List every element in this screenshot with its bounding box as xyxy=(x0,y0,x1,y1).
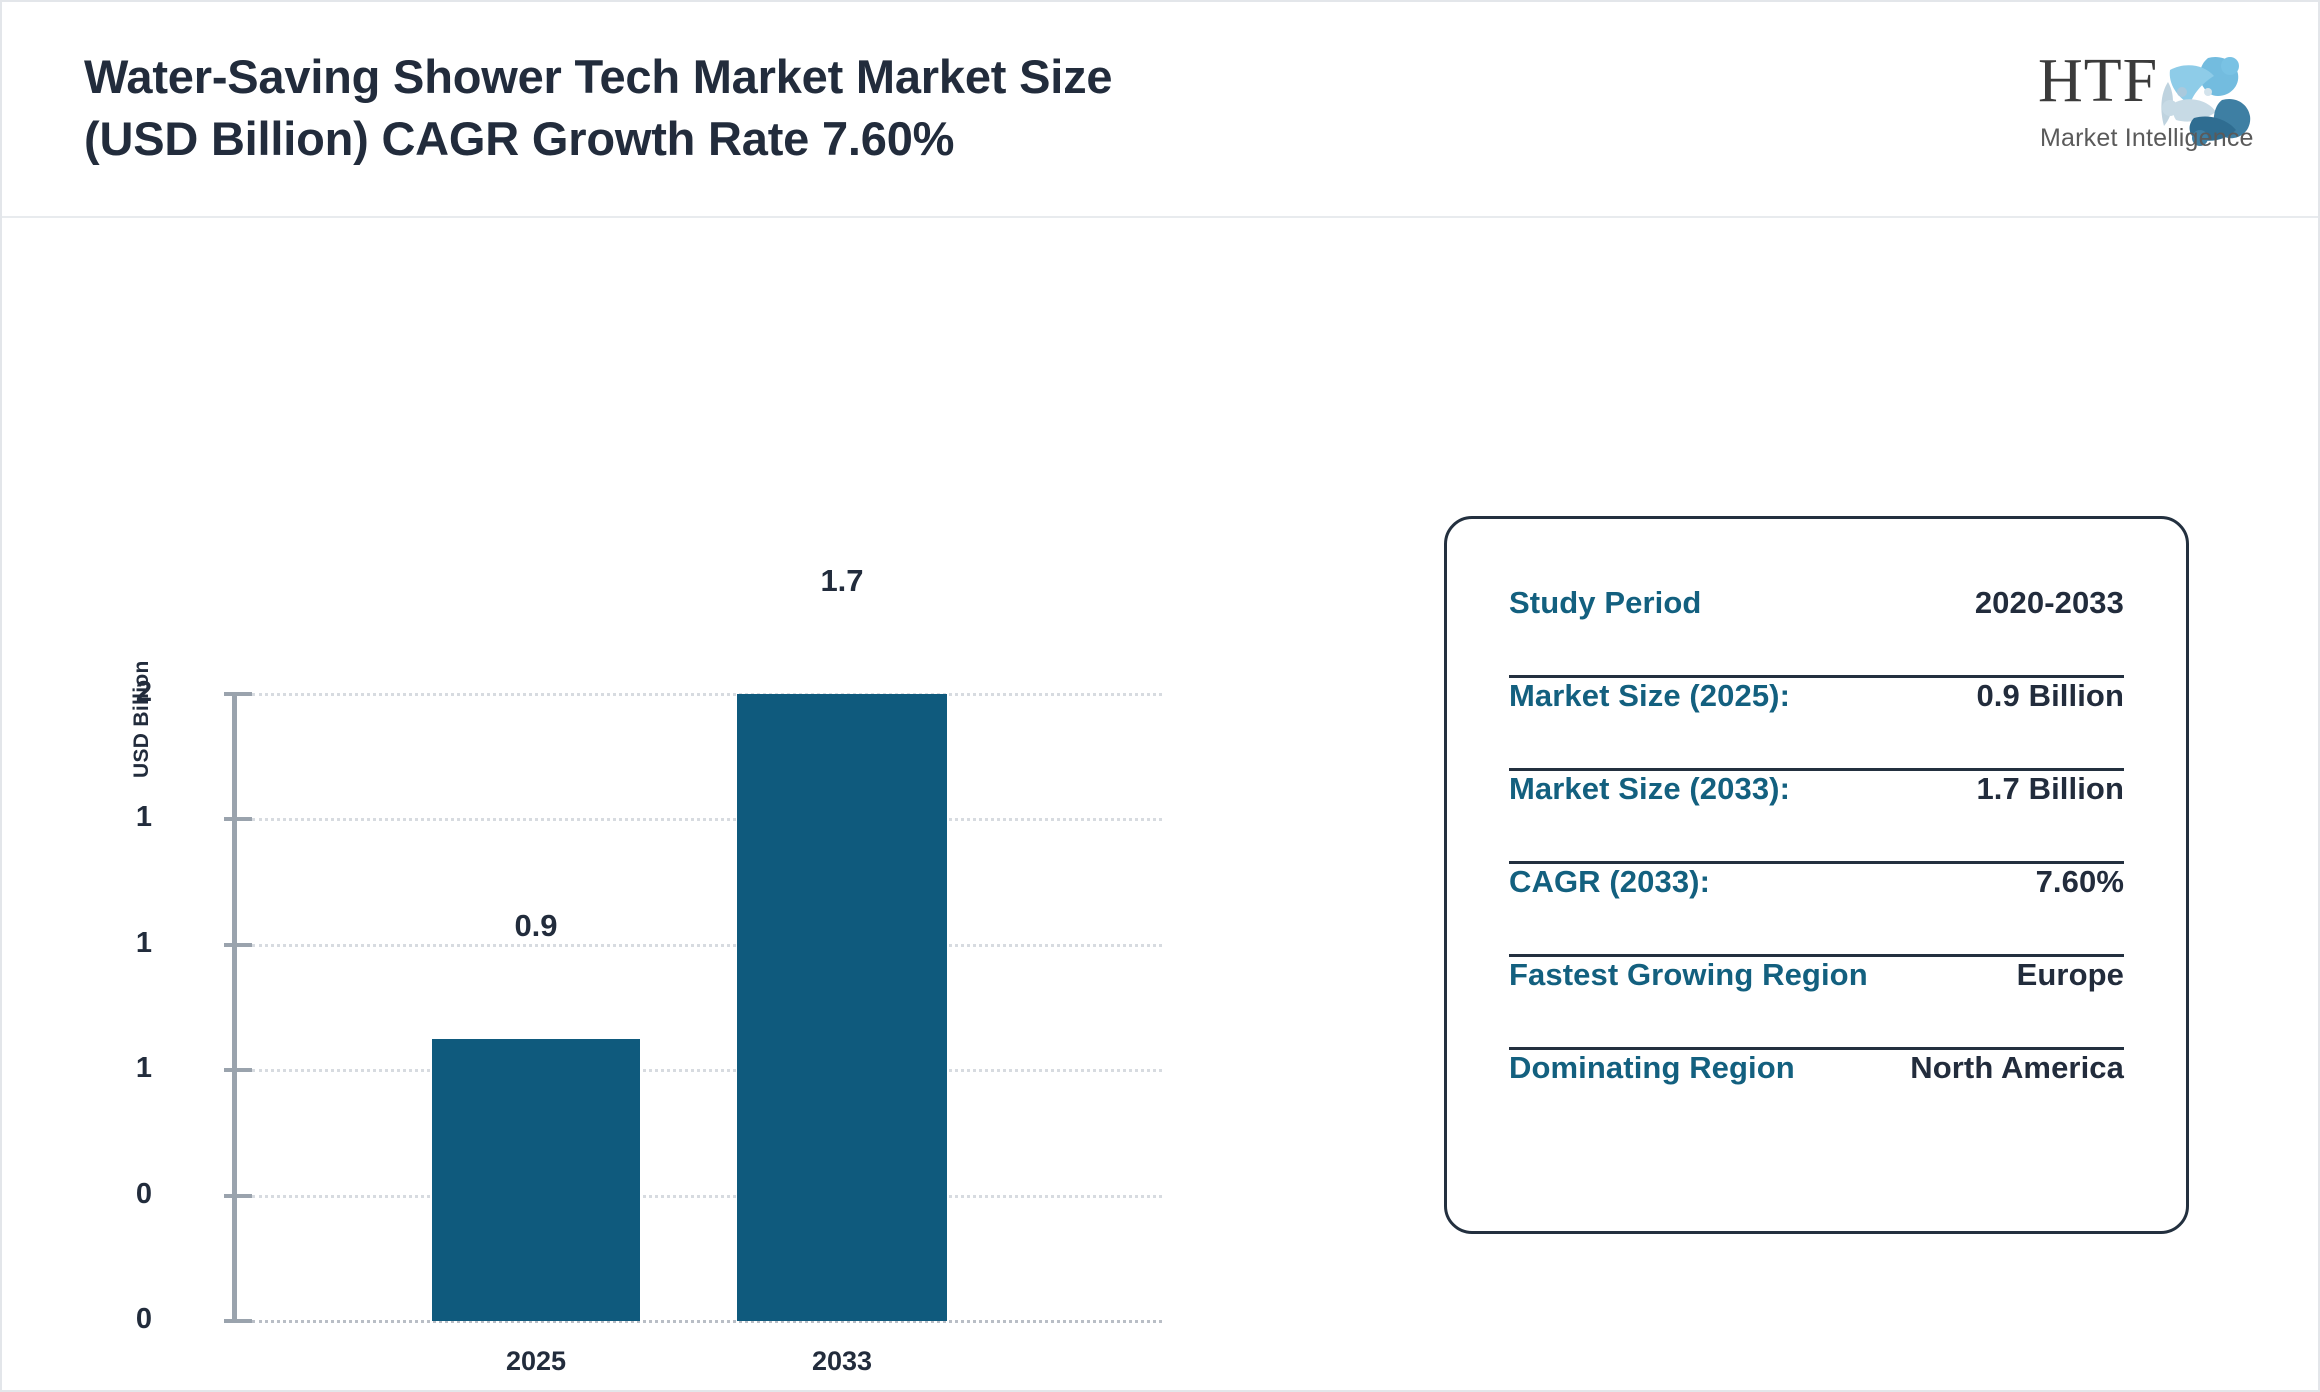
market-size-bar-chart: USD Billion 2 1 1 1 xyxy=(2,218,1332,1390)
page-title-line-2: (USD Billion) CAGR Growth Rate 7.60% xyxy=(84,108,1484,170)
card-row-market-size-2033: Market Size (2033): 1.7 Billion xyxy=(1509,771,2124,864)
bar-2033[interactable] xyxy=(737,694,947,1321)
card-key-cagr-2033: CAGR (2033): xyxy=(1509,864,1710,900)
gridline xyxy=(252,1195,1162,1198)
gridline xyxy=(252,944,1162,947)
card-row-cagr-2033: CAGR (2033): 7.60% xyxy=(1509,864,2124,957)
x-tick-label-2033: 2033 xyxy=(737,1346,947,1377)
logo-tagline: Market Intelligence xyxy=(2040,124,2254,153)
card-value-study-period: 2020-2033 xyxy=(1975,585,2124,621)
x-tick-label-2025: 2025 xyxy=(432,1346,640,1377)
card-key-study-period: Study Period xyxy=(1509,585,1701,621)
card-value-market-size-2033: 1.7 Billion xyxy=(1976,771,2124,807)
card-row-dominating-region: Dominating Region North America xyxy=(1509,1050,2124,1143)
y-tick-mark xyxy=(224,943,252,947)
y-tick-label-2: 2 xyxy=(92,676,152,709)
card-value-dominating-region: North America xyxy=(1910,1050,2124,1086)
y-tick-mark xyxy=(224,1068,252,1072)
y-tick-mark xyxy=(224,1319,252,1323)
card-value-cagr-2033: 7.60% xyxy=(2036,864,2124,900)
page-title: Water-Saving Shower Tech Market Market S… xyxy=(84,46,1484,170)
bar-2025[interactable] xyxy=(432,1039,640,1321)
card-key-dominating-region: Dominating Region xyxy=(1509,1050,1795,1086)
y-tick-label-0-4: 0 xyxy=(92,1178,152,1211)
y-tick-label-0: 0 xyxy=(92,1303,152,1336)
baseline-gridline xyxy=(252,1320,1162,1323)
y-axis-spine xyxy=(232,694,237,1323)
card-key-fastest-growing-region: Fastest Growing Region xyxy=(1509,957,1868,993)
report-page: Water-Saving Shower Tech Market Market S… xyxy=(0,0,2320,1392)
card-row-study-period: Study Period 2020-2033 xyxy=(1509,585,2124,678)
y-tick-mark xyxy=(224,1194,252,1198)
card-key-market-size-2033: Market Size (2033): xyxy=(1509,771,1790,807)
bar-value-2025: 0.9 xyxy=(432,908,640,944)
page-body: USD Billion 2 1 1 1 xyxy=(2,218,2318,1390)
card-row-market-size-2025: Market Size (2025): 0.9 Billion xyxy=(1509,678,2124,771)
card-value-market-size-2025: 0.9 Billion xyxy=(1976,678,2124,714)
page-title-line-1: Water-Saving Shower Tech Market Market S… xyxy=(84,46,1484,108)
htf-logo: HTF Market Intelligence xyxy=(2032,42,2262,162)
gridline xyxy=(252,818,1162,821)
logo-wordmark: HTF xyxy=(2038,50,2158,112)
y-tick-label-1-2: 1 xyxy=(92,927,152,960)
card-key-market-size-2025: Market Size (2025): xyxy=(1509,678,1790,714)
card-row-fastest-growing-region: Fastest Growing Region Europe xyxy=(1509,957,2124,1050)
bar-value-2033: 1.7 xyxy=(737,563,947,599)
y-tick-mark xyxy=(224,692,252,696)
page-header: Water-Saving Shower Tech Market Market S… xyxy=(2,2,2318,218)
y-tick-label-0-8: 1 xyxy=(92,1052,152,1085)
y-tick-mark xyxy=(224,817,252,821)
market-summary-card: Study Period 2020-2033 Market Size (2025… xyxy=(1444,516,2189,1234)
y-tick-label-1-6: 1 xyxy=(92,801,152,834)
card-value-fastest-growing-region: Europe xyxy=(2017,957,2124,993)
gridline xyxy=(252,693,1162,696)
gridline xyxy=(252,1069,1162,1072)
